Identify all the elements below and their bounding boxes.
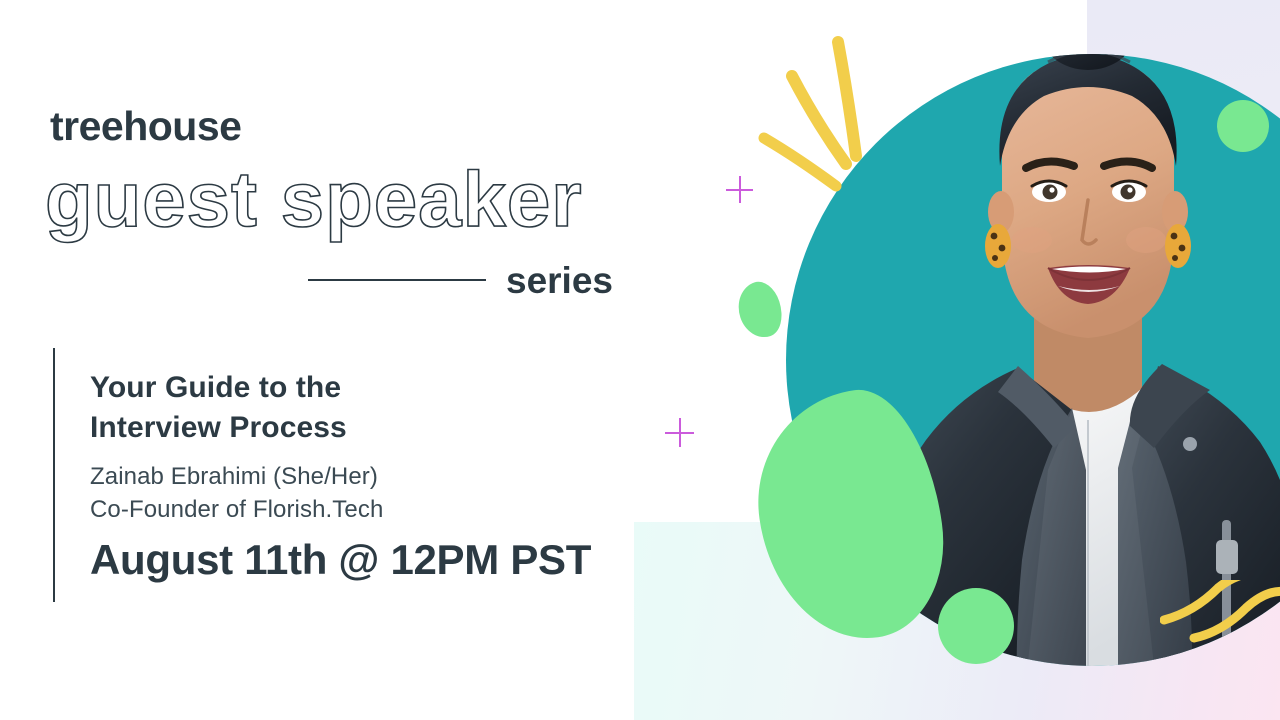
plus-mark-top (726, 176, 753, 203)
promo-graphic: treehouse guest speaker series Your Guid… (0, 0, 1280, 720)
series-row: series (308, 258, 628, 302)
speaker-name: Zainab Ebrahimi (She/Her) (90, 460, 560, 493)
speaker-block: Zainab Ebrahimi (She/Her) Co-Founder of … (90, 460, 560, 526)
brand-wordmark: treehouse (50, 106, 241, 147)
series-divider-rule (308, 279, 486, 281)
green-circle-bottom (938, 588, 1014, 664)
headline-outline: guest speaker (45, 160, 583, 238)
vertical-accent-rule (53, 348, 55, 602)
talk-title: Your Guide to the Interview Process (90, 368, 560, 447)
yellow-strokes-top (750, 30, 890, 205)
talk-title-line-1: Your Guide to the (90, 368, 560, 408)
speaker-role: Co-Founder of Florish.Tech (90, 493, 560, 526)
series-label: series (506, 262, 613, 299)
yellow-strokes-bottom (1160, 580, 1280, 695)
plus-mark-middle (665, 418, 694, 447)
talk-title-line-2: Interview Process (90, 408, 560, 448)
green-blob-small (731, 277, 788, 343)
event-datetime: August 11th @ 12PM PST (90, 536, 591, 583)
